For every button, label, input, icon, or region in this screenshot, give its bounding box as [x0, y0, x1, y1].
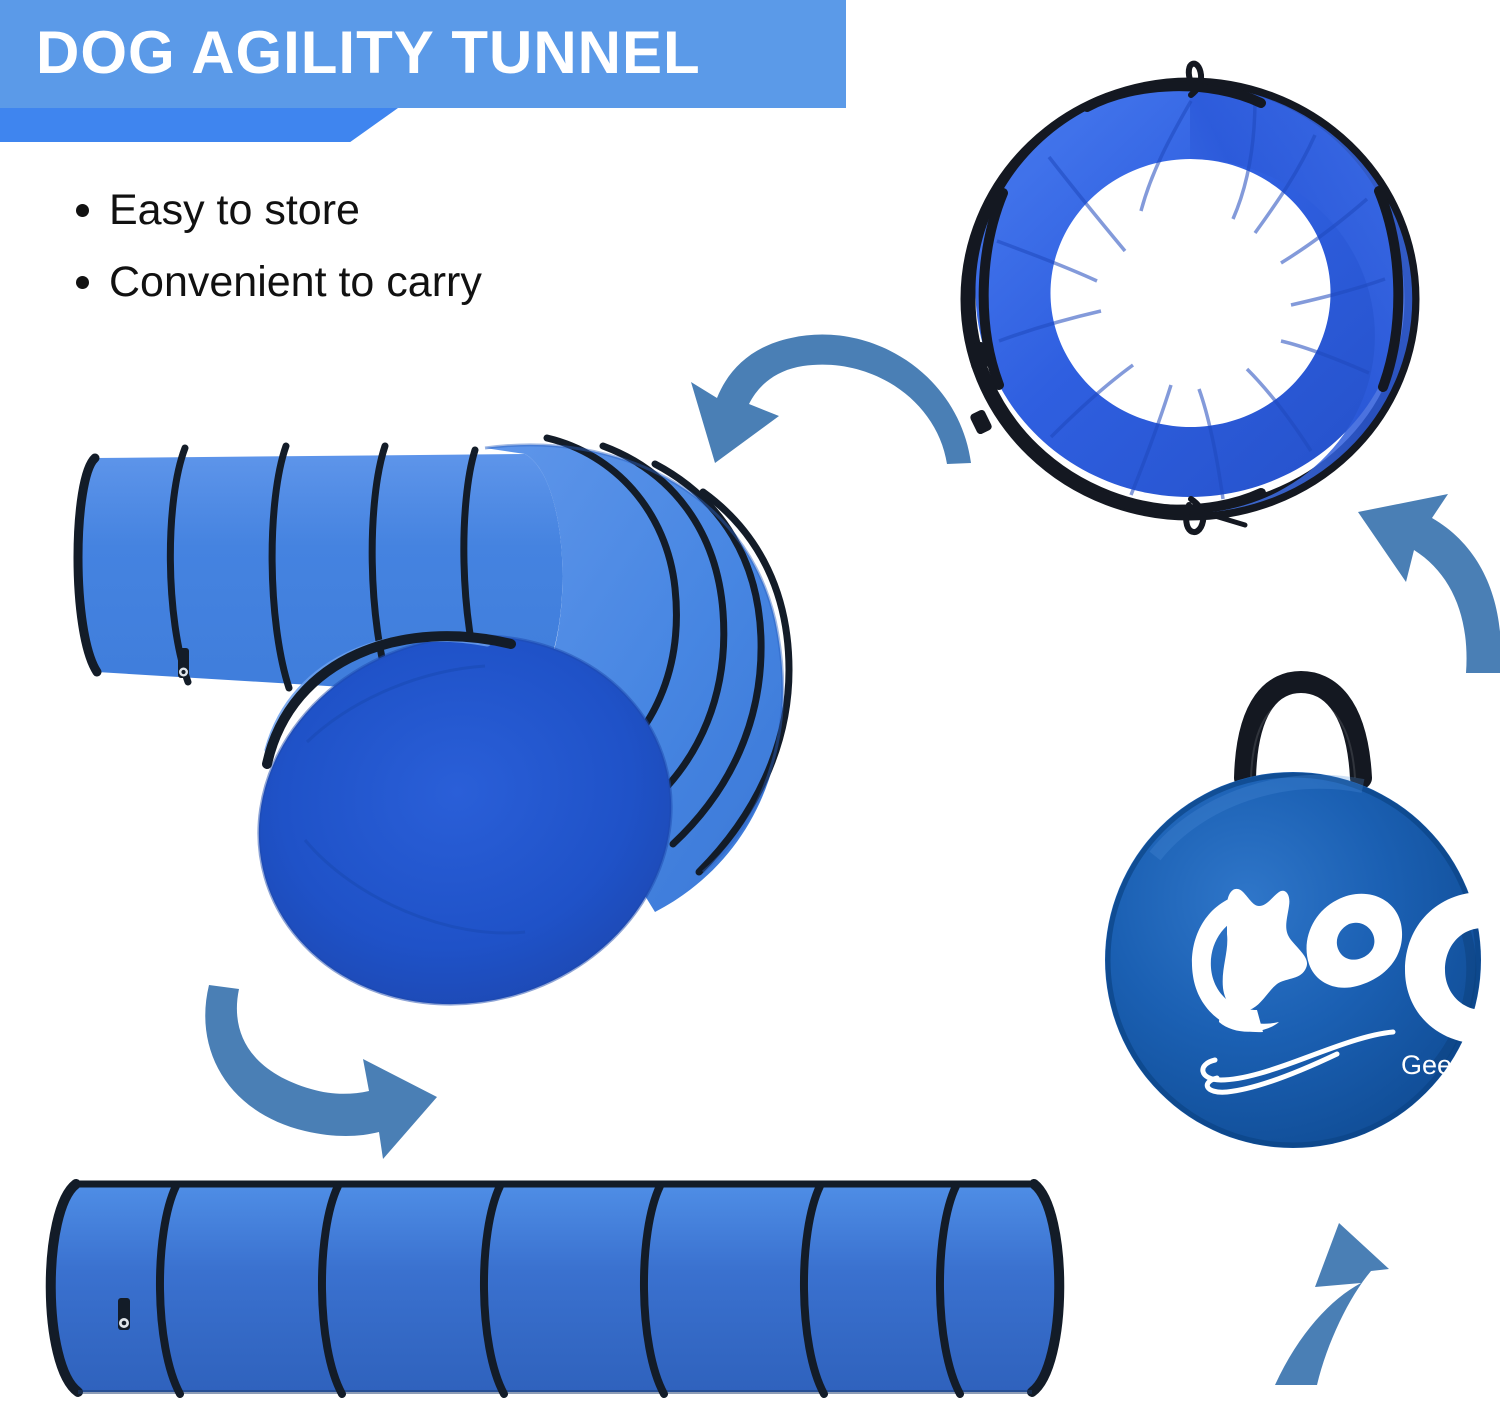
- bag-handle-strap: [1245, 682, 1361, 778]
- arrow-to-ring-icon: [675, 318, 985, 463]
- curved-tunnel-grommet-tab: [178, 648, 189, 678]
- arrow-straight-to-bag-icon: [1255, 1175, 1445, 1385]
- straight-tunnel-body: [51, 1184, 1060, 1392]
- straight-tunnel-image: [20, 1170, 1110, 1413]
- arrow-shape: [205, 985, 437, 1159]
- arrow-to-straight-tunnel-icon: [185, 985, 445, 1155]
- product-infographic: DOG AGILITY TUNNEL Easy to store Conveni…: [0, 0, 1500, 1413]
- page-title: DOG AGILITY TUNNEL: [36, 11, 701, 95]
- straight-tunnel-grommet-tab: [118, 1298, 130, 1330]
- bullet-dot-icon: [76, 204, 89, 217]
- arrow-shape: [1275, 1223, 1389, 1385]
- brand-wordmark: GeerDuo: [1401, 1050, 1500, 1080]
- list-item: Convenient to carry: [76, 260, 696, 306]
- curved-tunnel-image: [55, 420, 875, 1040]
- collapsed-tunnel-ring-image: [955, 55, 1425, 545]
- feature-label: Convenient to carry: [109, 260, 482, 306]
- arrow-bag-to-ring-icon: [1320, 478, 1500, 673]
- feature-label: Easy to store: [109, 188, 360, 234]
- list-item: Easy to store: [76, 188, 696, 234]
- feature-list: Easy to store Convenient to carry: [76, 188, 696, 331]
- arrow-shape: [1358, 494, 1500, 673]
- bullet-dot-icon: [76, 276, 89, 289]
- arrow-shape: [691, 335, 971, 464]
- header-banner-accent-strip: [0, 108, 398, 142]
- carry-bag-image: GeerDuo: [1095, 660, 1500, 1170]
